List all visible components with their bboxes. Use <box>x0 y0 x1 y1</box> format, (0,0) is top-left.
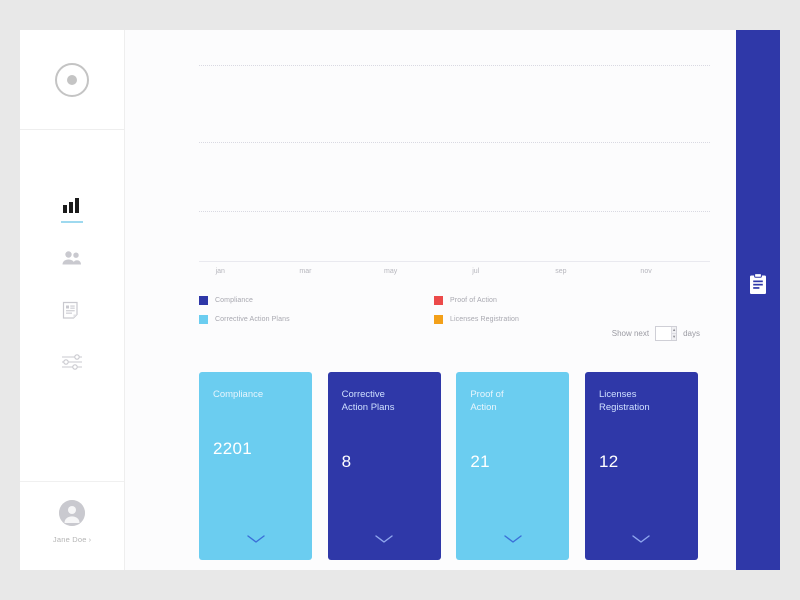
people-icon <box>61 250 83 266</box>
bar-column-may[interactable] <box>369 48 412 262</box>
x-tick-label <box>667 268 710 282</box>
bar-column-jun[interactable] <box>412 48 455 262</box>
x-tick-label <box>327 268 370 282</box>
user-name-row: Jane Doe › <box>53 535 91 544</box>
x-tick-label: jan <box>199 268 242 282</box>
summary-card[interactable]: Compliance2201 <box>199 372 312 560</box>
x-tick-label: may <box>369 268 412 282</box>
target-dot-icon <box>55 63 89 97</box>
chevron-down-icon[interactable] <box>632 530 650 548</box>
chevron-down-icon[interactable] <box>375 530 393 548</box>
chart-bars <box>199 48 710 262</box>
chevron-right-icon: › <box>89 535 92 544</box>
chevron-down-icon[interactable] <box>504 530 522 548</box>
legend-swatch <box>434 296 443 305</box>
days-input[interactable] <box>656 327 671 340</box>
stepper-buttons: ▲ ▼ <box>671 327 676 340</box>
legend-label: Compliance <box>215 297 253 304</box>
card-value: 12 <box>599 452 684 472</box>
chart-x-axis <box>199 261 710 262</box>
chart-plot-area <box>199 48 710 262</box>
main-content: janmarmayjulsepnov ComplianceProof of Ac… <box>125 30 736 570</box>
user-name: Jane Doe <box>53 535 87 544</box>
x-tick-label <box>582 268 625 282</box>
legend-item[interactable]: Corrective Action Plans <box>199 315 434 324</box>
user-menu[interactable]: Jane Doe › <box>20 481 124 570</box>
summary-cards: Compliance2201CorrectiveAction Plans8Pro… <box>199 372 698 560</box>
sliders-icon <box>61 354 83 370</box>
legend-swatch <box>434 315 443 324</box>
sidebar-item-analytics[interactable] <box>20 180 124 232</box>
stepper-decrement-button[interactable]: ▼ <box>672 333 676 340</box>
bar-chart-icon <box>62 198 82 214</box>
app-logo[interactable] <box>20 30 124 130</box>
bar-column-feb[interactable] <box>242 48 285 262</box>
sidebar-item-users[interactable] <box>20 232 124 284</box>
document-icon <box>62 301 82 320</box>
chart-x-tick-labels: janmarmayjulsepnov <box>199 268 710 282</box>
app-window: Jane Doe › janmarmayjulsepnov Compliance… <box>20 30 780 570</box>
logo-dot <box>67 75 77 85</box>
legend-swatch <box>199 315 208 324</box>
bar-column-mar[interactable] <box>284 48 327 262</box>
bar-column-dec[interactable] <box>667 48 710 262</box>
card-value: 8 <box>342 452 427 472</box>
sidebar: Jane Doe › <box>20 30 125 570</box>
show-next-suffix-label: days <box>683 329 700 338</box>
sidebar-item-reports[interactable] <box>20 284 124 336</box>
legend-label: Licenses Registration <box>450 316 519 323</box>
x-tick-label: sep <box>540 268 583 282</box>
card-title: CorrectiveAction Plans <box>342 388 427 414</box>
show-next-prefix-label: Show next <box>612 329 649 338</box>
bar-column-sep[interactable] <box>540 48 583 262</box>
x-tick-label <box>412 268 455 282</box>
bar-column-jul[interactable] <box>454 48 497 262</box>
right-rail <box>736 30 780 570</box>
card-value: 2201 <box>213 439 298 459</box>
legend-label: Corrective Action Plans <box>215 316 290 323</box>
bar-column-nov[interactable] <box>625 48 668 262</box>
x-tick-label <box>242 268 285 282</box>
summary-card[interactable]: Proof ofAction21 <box>456 372 569 560</box>
bar-column-apr[interactable] <box>327 48 370 262</box>
card-title: Compliance <box>213 388 298 401</box>
legend-swatch <box>199 296 208 305</box>
show-next-days-control: Show next ▲ ▼ days <box>612 326 700 341</box>
sidebar-item-settings[interactable] <box>20 336 124 388</box>
bar-column-aug[interactable] <box>497 48 540 262</box>
x-tick-label: nov <box>625 268 668 282</box>
sidebar-nav <box>20 180 124 388</box>
bar-column-oct[interactable] <box>582 48 625 262</box>
active-indicator <box>61 221 83 223</box>
legend-item[interactable]: Compliance <box>199 296 434 305</box>
x-tick-label: mar <box>284 268 327 282</box>
x-tick-label <box>497 268 540 282</box>
legend-item[interactable]: Licenses Registration <box>434 315 669 324</box>
chart-legend: ComplianceProof of ActionCorrective Acti… <box>143 296 669 324</box>
summary-card[interactable]: CorrectiveAction Plans8 <box>328 372 441 560</box>
x-tick-label: jul <box>454 268 497 282</box>
days-stepper[interactable]: ▲ ▼ <box>655 326 677 341</box>
legend-label: Proof of Action <box>450 297 497 304</box>
clipboard-icon[interactable] <box>749 273 767 300</box>
card-title: Proof ofAction <box>470 388 555 414</box>
bar-column-jan[interactable] <box>199 48 242 262</box>
legend-item[interactable]: Proof of Action <box>434 296 669 305</box>
avatar-icon <box>59 500 85 526</box>
chevron-down-icon[interactable] <box>247 530 265 548</box>
summary-card[interactable]: LicensesRegistration12 <box>585 372 698 560</box>
stacked-bar-chart: janmarmayjulsepnov <box>143 40 718 290</box>
card-title: LicensesRegistration <box>599 388 684 414</box>
card-value: 21 <box>470 452 555 472</box>
